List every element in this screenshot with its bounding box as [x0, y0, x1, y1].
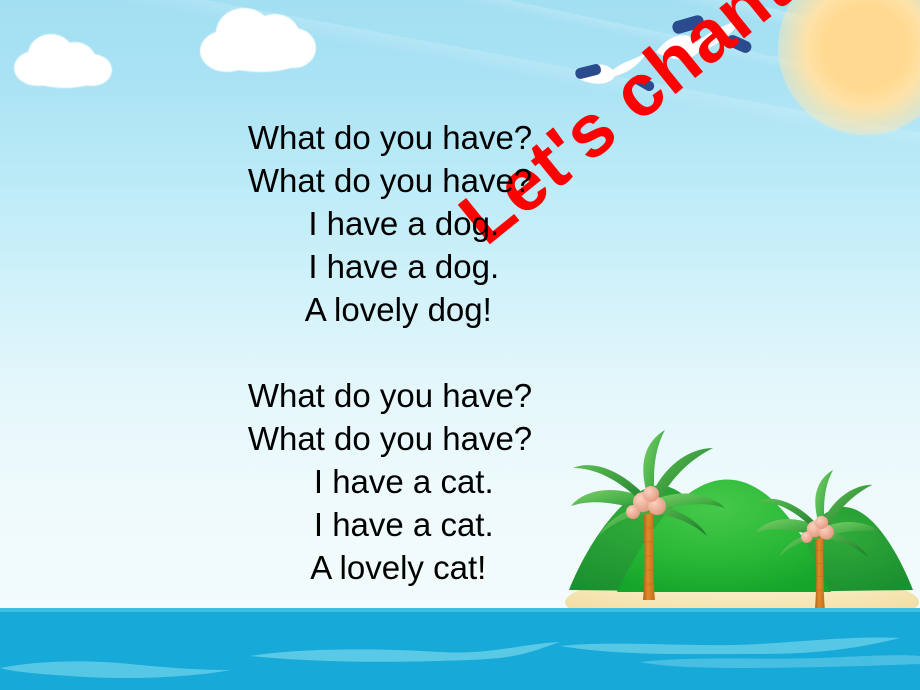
chant-slide: Let's chant! What do you have? What do y…: [0, 0, 920, 690]
lyric-line: What do you have?: [0, 116, 780, 159]
lyric-line: I have a dog.: [0, 202, 780, 245]
lyric-line: What do you have?: [0, 159, 780, 202]
wave-shape: [250, 642, 560, 662]
wave-shape: [0, 661, 230, 678]
island-icon: [565, 440, 920, 615]
stanza-one: What do you have? What do you have? I ha…: [0, 116, 780, 331]
lyric-line: What do you have?: [0, 374, 780, 417]
sea-icon: [0, 608, 920, 690]
lyric-line: A lovely dog!: [0, 288, 780, 331]
wave-shape: [560, 637, 900, 654]
wave-shape: [640, 655, 920, 668]
lyric-line: I have a dog.: [0, 245, 780, 288]
stanza-gap: [0, 331, 780, 374]
